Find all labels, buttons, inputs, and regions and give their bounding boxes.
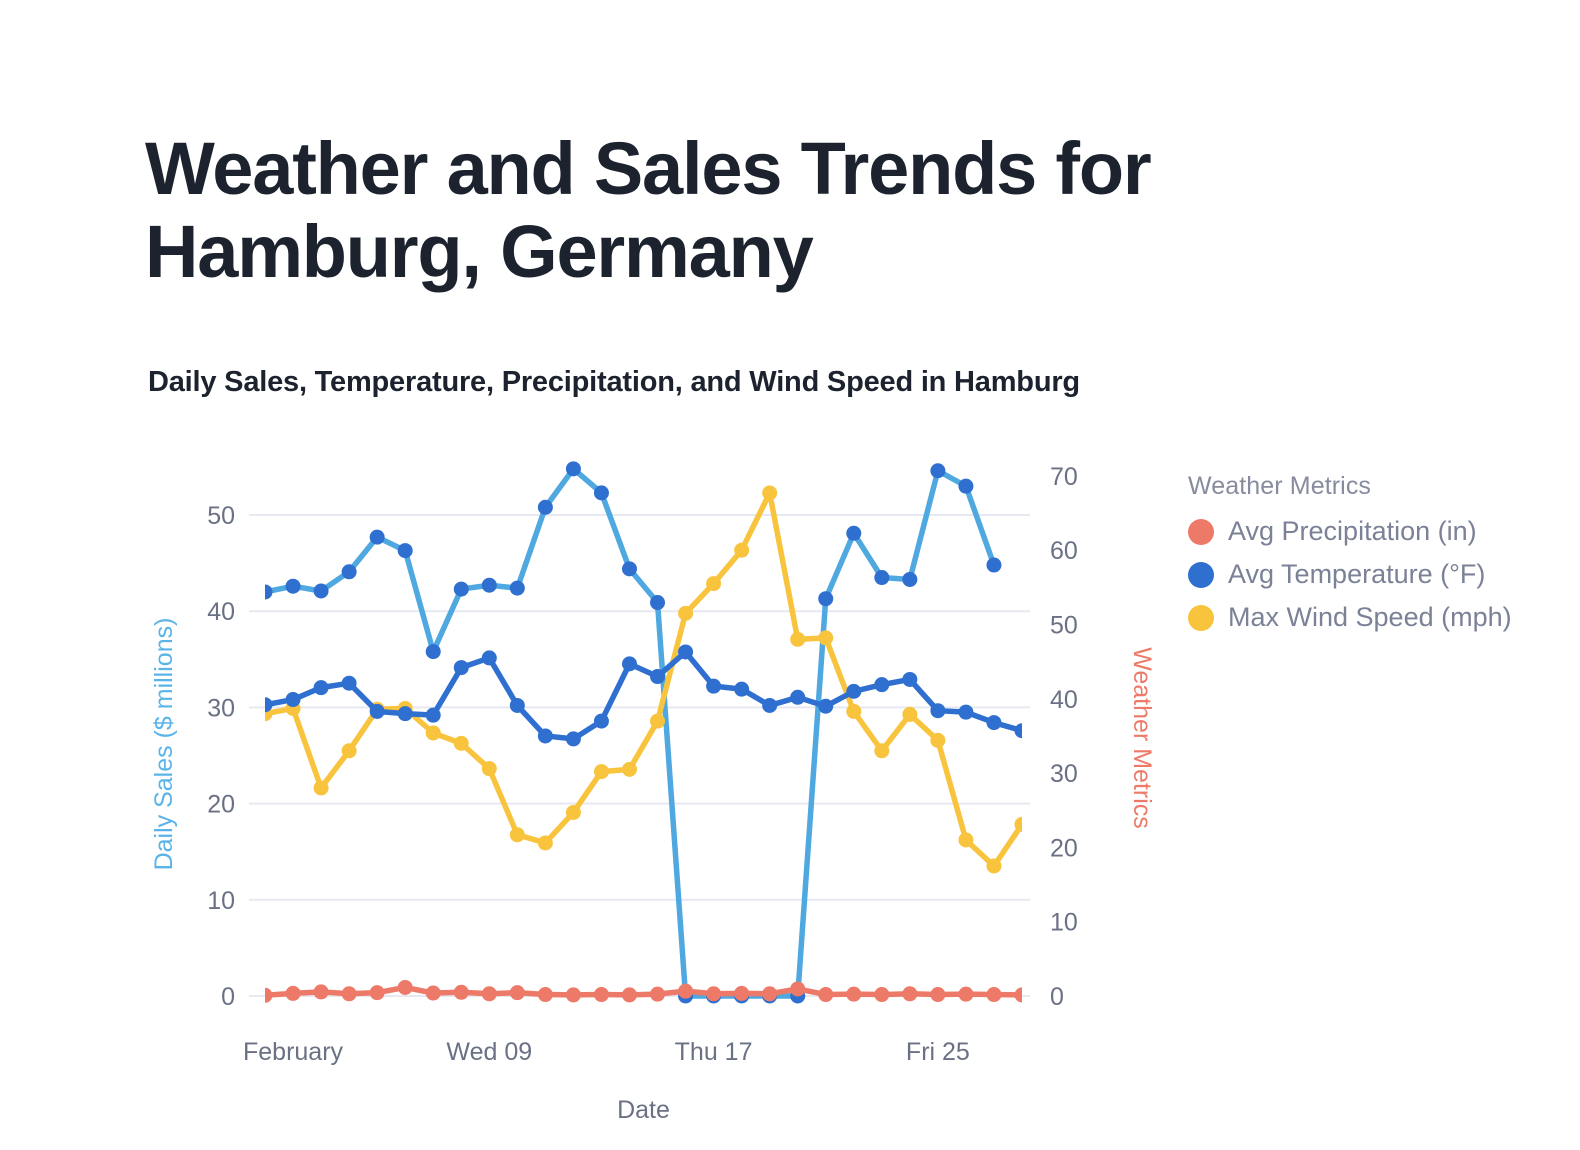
series-avg-temperature-f bbox=[258, 644, 1030, 746]
left-tick-label: 0 bbox=[221, 983, 235, 1011]
data-point[interactable] bbox=[314, 984, 329, 999]
data-point[interactable] bbox=[538, 728, 553, 743]
data-point[interactable] bbox=[706, 576, 721, 591]
data-point[interactable] bbox=[650, 669, 665, 684]
data-point[interactable] bbox=[902, 986, 917, 1001]
data-point[interactable] bbox=[734, 986, 749, 1001]
data-point[interactable] bbox=[818, 630, 833, 645]
data-point[interactable] bbox=[398, 543, 413, 558]
left-axis-ticks: 01020304050 bbox=[207, 502, 235, 1011]
data-point[interactable] bbox=[538, 500, 553, 515]
data-point[interactable] bbox=[286, 579, 301, 594]
data-point[interactable] bbox=[846, 704, 861, 719]
data-point[interactable] bbox=[538, 835, 553, 850]
data-point[interactable] bbox=[454, 660, 469, 675]
data-point[interactable] bbox=[958, 705, 973, 720]
data-point[interactable] bbox=[622, 987, 637, 1002]
data-point[interactable] bbox=[958, 987, 973, 1002]
data-point[interactable] bbox=[454, 582, 469, 597]
data-point[interactable] bbox=[874, 677, 889, 692]
legend-title: Weather Metrics bbox=[1188, 472, 1512, 501]
data-point[interactable] bbox=[510, 698, 525, 713]
legend-item[interactable]: Avg Temperature (°F) bbox=[1188, 553, 1512, 596]
data-point[interactable] bbox=[818, 987, 833, 1002]
data-point[interactable] bbox=[930, 733, 945, 748]
data-point[interactable] bbox=[286, 692, 301, 707]
series-daily-sales-millions bbox=[258, 461, 1002, 1003]
data-point[interactable] bbox=[426, 708, 441, 723]
data-point[interactable] bbox=[370, 530, 385, 545]
data-point[interactable] bbox=[342, 676, 357, 691]
data-point[interactable] bbox=[342, 743, 357, 758]
right-tick-label: 20 bbox=[1050, 834, 1078, 862]
data-point[interactable] bbox=[594, 485, 609, 500]
chart-page: Weather and Sales Trends for Hamburg, Ge… bbox=[0, 0, 1580, 1150]
data-point[interactable] bbox=[426, 644, 441, 659]
data-point[interactable] bbox=[986, 558, 1001, 573]
data-point[interactable] bbox=[902, 672, 917, 687]
data-point[interactable] bbox=[482, 578, 497, 593]
x-axis-ticks: FebruaryWed 09Thu 17Fri 25 bbox=[243, 1038, 970, 1066]
data-point[interactable] bbox=[538, 987, 553, 1002]
right-tick-label: 50 bbox=[1050, 612, 1078, 640]
data-point[interactable] bbox=[622, 561, 637, 576]
legend-swatch-icon bbox=[1188, 562, 1214, 588]
data-point[interactable] bbox=[370, 704, 385, 719]
data-point[interactable] bbox=[958, 832, 973, 847]
data-point[interactable] bbox=[398, 706, 413, 721]
data-point[interactable] bbox=[622, 656, 637, 671]
data-point[interactable] bbox=[622, 762, 637, 777]
data-point[interactable] bbox=[762, 485, 777, 500]
data-point[interactable] bbox=[342, 986, 357, 1001]
data-point[interactable] bbox=[678, 644, 693, 659]
x-tick-label: Fri 25 bbox=[906, 1038, 970, 1066]
data-point[interactable] bbox=[1015, 723, 1030, 738]
data-point[interactable] bbox=[370, 985, 385, 1000]
data-point[interactable] bbox=[482, 650, 497, 665]
legend-item[interactable]: Avg Precipitation (in) bbox=[1188, 510, 1512, 553]
data-point[interactable] bbox=[678, 984, 693, 999]
legend-item[interactable]: Max Wind Speed (mph) bbox=[1188, 596, 1512, 639]
data-point[interactable] bbox=[790, 981, 805, 996]
data-point[interactable] bbox=[258, 584, 273, 599]
right-tick-label: 60 bbox=[1050, 537, 1078, 565]
data-point[interactable] bbox=[482, 986, 497, 1001]
legend-swatch-icon bbox=[1188, 519, 1214, 545]
data-point[interactable] bbox=[930, 463, 945, 478]
data-point[interactable] bbox=[594, 987, 609, 1002]
left-tick-label: 10 bbox=[207, 887, 235, 915]
data-point[interactable] bbox=[314, 584, 329, 599]
data-point[interactable] bbox=[818, 591, 833, 606]
right-axis-ticks: 010203040506070 bbox=[1050, 463, 1078, 1011]
left-tick-label: 50 bbox=[207, 502, 235, 530]
data-point[interactable] bbox=[930, 987, 945, 1002]
data-point[interactable] bbox=[846, 526, 861, 541]
data-point[interactable] bbox=[1015, 987, 1030, 1002]
data-point[interactable] bbox=[986, 715, 1001, 730]
left-tick-label: 20 bbox=[207, 791, 235, 819]
data-point[interactable] bbox=[566, 987, 581, 1002]
data-point[interactable] bbox=[790, 632, 805, 647]
data-point[interactable] bbox=[510, 827, 525, 842]
x-axis-title: Date bbox=[617, 1096, 670, 1124]
data-point[interactable] bbox=[874, 570, 889, 585]
right-tick-label: 70 bbox=[1050, 463, 1078, 491]
legend-item-label: Max Wind Speed (mph) bbox=[1228, 602, 1512, 633]
data-point[interactable] bbox=[342, 564, 357, 579]
data-point[interactable] bbox=[678, 606, 693, 621]
data-point[interactable] bbox=[286, 986, 301, 1001]
data-point[interactable] bbox=[510, 581, 525, 596]
data-point[interactable] bbox=[930, 703, 945, 718]
data-point[interactable] bbox=[958, 479, 973, 494]
data-point[interactable] bbox=[314, 780, 329, 795]
data-point[interactable] bbox=[874, 987, 889, 1002]
legend-item-label: Avg Precipitation (in) bbox=[1228, 516, 1477, 547]
data-point[interactable] bbox=[874, 743, 889, 758]
data-point[interactable] bbox=[566, 731, 581, 746]
left-tick-label: 40 bbox=[207, 598, 235, 626]
series-line bbox=[265, 469, 994, 996]
legend-swatch-icon bbox=[1188, 605, 1214, 631]
data-point[interactable] bbox=[566, 461, 581, 476]
data-point[interactable] bbox=[846, 987, 861, 1002]
data-point[interactable] bbox=[734, 543, 749, 558]
left-tick-label: 30 bbox=[207, 694, 235, 722]
x-tick-label: Wed 09 bbox=[446, 1038, 532, 1066]
legend-items: Avg Precipitation (in)Avg Temperature (°… bbox=[1188, 510, 1512, 639]
data-point[interactable] bbox=[818, 699, 833, 714]
left-axis-title: Daily Sales ($ millions) bbox=[150, 618, 178, 871]
data-point[interactable] bbox=[426, 986, 441, 1001]
data-point[interactable] bbox=[314, 680, 329, 695]
series-group bbox=[258, 461, 1030, 1003]
data-point[interactable] bbox=[706, 986, 721, 1001]
right-tick-label: 40 bbox=[1050, 686, 1078, 714]
data-point[interactable] bbox=[258, 697, 273, 712]
data-point[interactable] bbox=[482, 761, 497, 776]
data-point[interactable] bbox=[902, 707, 917, 722]
data-point[interactable] bbox=[986, 858, 1001, 873]
data-point[interactable] bbox=[762, 698, 777, 713]
right-axis-title: Weather Metrics bbox=[1128, 647, 1156, 829]
chart-legend: Weather Metrics Avg Precipitation (in)Av… bbox=[1188, 472, 1512, 639]
x-tick-label: Thu 17 bbox=[675, 1038, 753, 1066]
data-point[interactable] bbox=[706, 679, 721, 694]
data-point[interactable] bbox=[510, 985, 525, 1000]
data-point[interactable] bbox=[762, 986, 777, 1001]
data-point[interactable] bbox=[650, 595, 665, 610]
right-tick-label: 0 bbox=[1050, 983, 1064, 1011]
series-avg-precipitation-in bbox=[258, 980, 1030, 1003]
data-point[interactable] bbox=[594, 714, 609, 729]
data-point[interactable] bbox=[454, 736, 469, 751]
data-point[interactable] bbox=[426, 725, 441, 740]
data-point[interactable] bbox=[454, 985, 469, 1000]
data-point[interactable] bbox=[650, 714, 665, 729]
data-point[interactable] bbox=[902, 572, 917, 587]
x-tick-label: February bbox=[243, 1038, 344, 1066]
data-point[interactable] bbox=[398, 980, 413, 995]
data-point[interactable] bbox=[650, 987, 665, 1002]
data-point[interactable] bbox=[594, 764, 609, 779]
data-point[interactable] bbox=[986, 987, 1001, 1002]
data-point[interactable] bbox=[846, 684, 861, 699]
right-tick-label: 10 bbox=[1050, 909, 1078, 937]
data-point[interactable] bbox=[734, 682, 749, 697]
data-point[interactable] bbox=[1015, 817, 1030, 832]
data-point[interactable] bbox=[790, 690, 805, 705]
series-line bbox=[265, 652, 1022, 739]
data-point[interactable] bbox=[566, 805, 581, 820]
legend-item-label: Avg Temperature (°F) bbox=[1228, 559, 1485, 590]
right-tick-label: 30 bbox=[1050, 760, 1078, 788]
